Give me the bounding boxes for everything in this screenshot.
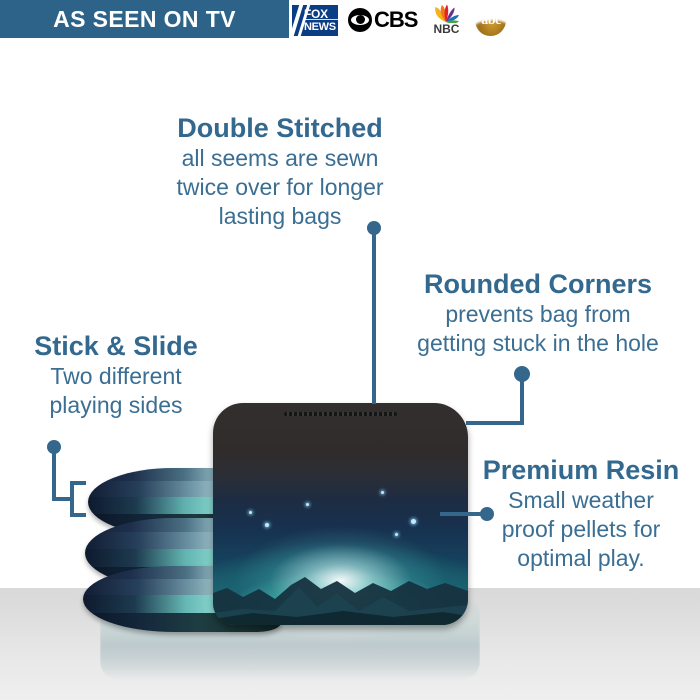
callout-line: playing sides [2,391,230,420]
callout-rounded-corners: Rounded Corners prevents bag from gettin… [382,268,694,358]
callout-double-stitched: Double Stitched all seems are sewn twice… [120,112,440,231]
callout-line: twice over for longer [120,173,440,202]
callout-heading: Premium Resin [466,454,696,486]
callout-heading: Stick & Slide [2,330,230,362]
abc-logo: abc [475,5,506,36]
bag-stitch-seam [284,412,396,416]
as-seen-on-tv-badge: AS SEEN ON TV [0,0,289,38]
nbc-logo-word: NBC [426,22,466,36]
abc-logo-word: abc [475,5,506,36]
mountain-silhouette [213,567,468,625]
callout-line: proof pellets for [466,515,696,544]
callout-premium-resin: Premium Resin Small weather proof pellet… [466,454,696,573]
cbs-logo-word: CBS [374,7,417,33]
callout-line: optimal play. [466,544,696,573]
callout-line: prevents bag from [382,300,694,329]
bag-front [213,403,468,625]
fox-logo-line1: FOX [304,7,339,21]
nbc-logo: NBC [426,3,466,37]
callout-line: getting stuck in the hole [382,329,694,358]
callout-line: Two different [2,362,230,391]
fox-logo-line2: NEWS [304,20,339,34]
cbs-eye-icon [348,8,372,32]
nbc-peacock-icon [430,3,462,23]
callout-line: all seems are sewn [120,144,440,173]
callout-line: Small weather [466,486,696,515]
callout-heading: Rounded Corners [382,268,694,300]
badge-label: AS SEEN ON TV [0,0,289,38]
callout-stick-and-slide: Stick & Slide Two different playing side… [2,330,230,420]
callout-heading: Double Stitched [120,112,440,144]
infographic-canvas: Double Stitched all seems are sewn twice… [0,0,700,700]
network-logo-strip: FOX NEWS CBS NBC abc [291,2,506,38]
callout-line: lasting bags [120,202,440,231]
fox-news-logo: FOX NEWS [291,4,339,37]
cbs-logo: CBS [348,7,417,33]
